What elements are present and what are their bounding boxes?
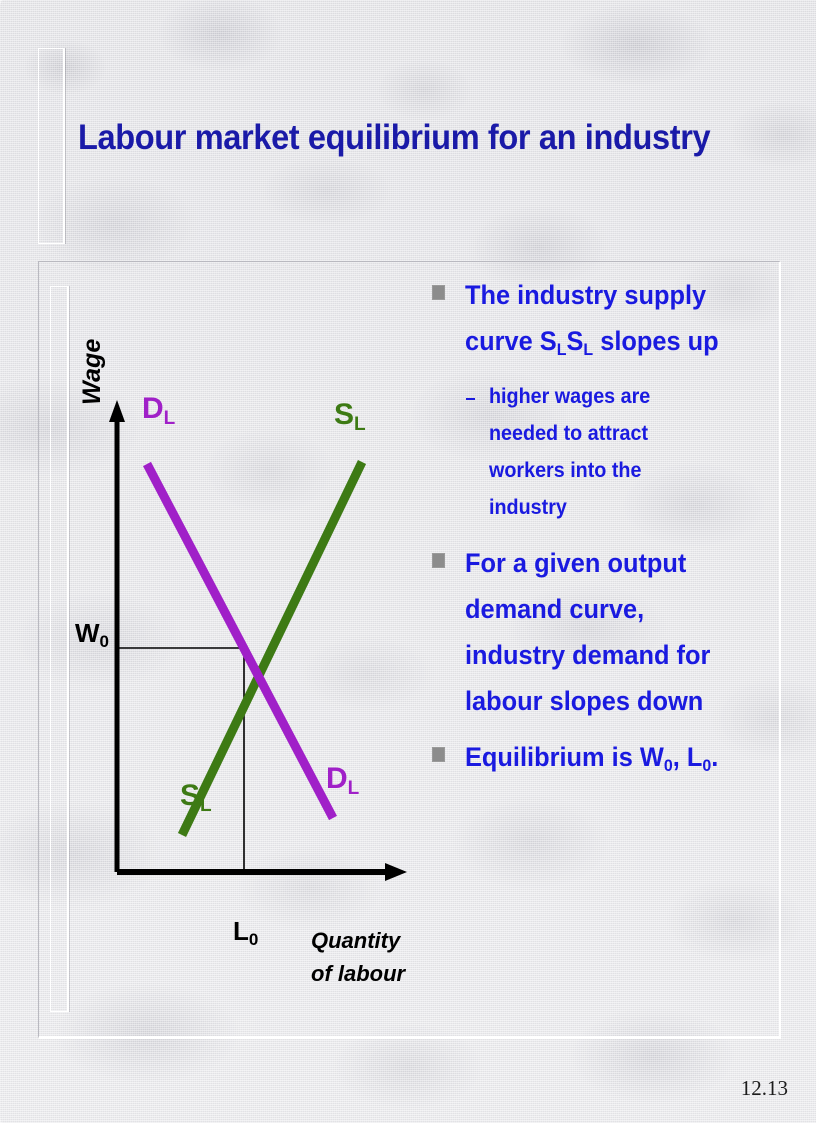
y-axis-title: Wage	[78, 339, 107, 405]
x-axis	[117, 863, 407, 881]
bullet-item-supply: The industry supply curve SLSL slopes up	[432, 272, 762, 368]
bullet-eq-part1: Equilibrium is W	[465, 742, 664, 772]
dash-bullet-icon	[466, 398, 475, 400]
demand-label-letter: D	[326, 762, 348, 795]
bullet-text-supply: The industry supply curve SLSL slopes up	[465, 272, 744, 368]
bullet-eq-sub2: 0	[702, 756, 711, 775]
square-bullet-icon	[432, 553, 445, 568]
x-axis-title: Quantity of labour	[311, 924, 431, 990]
x-axis-tick-label-l0: L0	[233, 916, 258, 947]
decorative-bar-upper	[38, 48, 65, 244]
bullet-text-demand: For a given output demand curve, industr…	[465, 540, 744, 724]
l0-letter: L	[233, 916, 249, 946]
bullet-supply-sub1: L	[557, 340, 567, 359]
bullet-list: The industry supply curve SLSL slopes up…	[432, 272, 762, 794]
demand-label-letter: D	[142, 392, 164, 425]
bullet-item-demand: For a given output demand curve, industr…	[432, 540, 762, 724]
supply-label-letter: S	[334, 398, 354, 431]
square-bullet-icon	[432, 285, 445, 300]
square-bullet-icon	[432, 747, 445, 762]
subbullet-text-wages: higher wages are needed to attract worke…	[489, 378, 705, 526]
supply-curve-label-top: SL	[334, 398, 366, 432]
w0-letter: W	[75, 618, 100, 648]
bullet-eq-sub1: 0	[664, 756, 673, 775]
x-axis-title-line1: Quantity	[311, 928, 400, 953]
demand-curve-label-top: DL	[142, 392, 175, 426]
bullet-eq-part3: .	[711, 742, 718, 772]
demand-label-subscript: L	[164, 408, 176, 429]
x-axis-title-line2: of labour	[311, 961, 405, 986]
demand-curve-label-bottom: DL	[326, 762, 359, 796]
slide-title: Labour market equilibrium for an industr…	[78, 118, 710, 158]
slide-canvas: Labour market equilibrium for an industr…	[0, 0, 816, 1123]
y-axis	[109, 400, 125, 872]
demand-curve	[147, 464, 333, 818]
bullet-supply-sub2: L	[583, 340, 593, 359]
y-axis-tick-label-w0: W0	[75, 618, 109, 649]
l0-subscript: 0	[249, 930, 258, 949]
supply-curve-label-bottom: SL	[180, 779, 212, 813]
supply-label-letter: S	[180, 779, 200, 812]
supply-label-subscript: L	[354, 414, 366, 435]
bullet-supply-part3: slopes up	[593, 326, 719, 356]
equilibrium-guides	[117, 648, 244, 872]
page-number: 12.13	[741, 1076, 788, 1101]
bullet-supply-part2: S	[566, 326, 583, 356]
demand-label-subscript: L	[348, 778, 360, 799]
w0-subscript: 0	[100, 632, 109, 651]
bullet-text-equilibrium: Equilibrium is W0, L0.	[465, 734, 744, 784]
bullet-eq-part2: , L	[673, 742, 703, 772]
subbullet-item-wages: higher wages are needed to attract worke…	[466, 378, 762, 526]
bullet-item-equilibrium: Equilibrium is W0, L0.	[432, 734, 762, 784]
supply-label-subscript: L	[200, 795, 212, 816]
